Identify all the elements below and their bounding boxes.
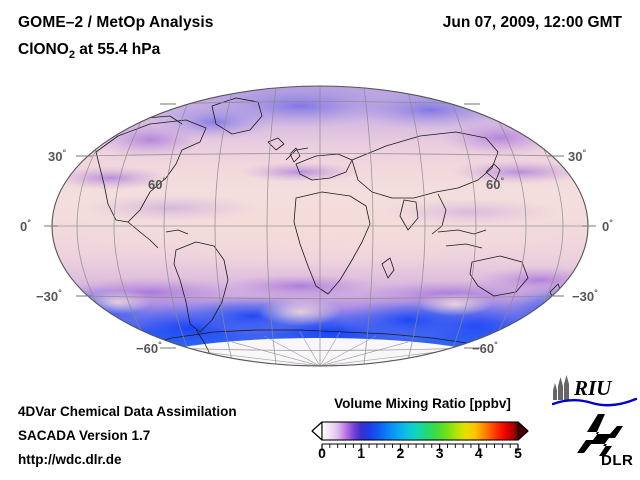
lat-label-minus30-left: −30° bbox=[36, 289, 62, 304]
world-map: 60° 30° 0° −30° −60° 60° 30° 0° −30° −60… bbox=[0, 80, 640, 385]
colorbar-tick-0: 0 bbox=[311, 445, 333, 461]
page-title: GOME–2 / MetOp Analysis bbox=[18, 14, 214, 32]
colorbar-max-arrow bbox=[518, 422, 528, 440]
colorbar-tick-1: 1 bbox=[350, 445, 372, 461]
lat-label-30-left: 30° bbox=[48, 149, 66, 164]
riu-wordmark: RIU bbox=[573, 376, 613, 400]
lat-label-60-right: 60° bbox=[486, 177, 504, 192]
species-name: ClONO bbox=[18, 41, 69, 58]
colorbar-gradient bbox=[322, 422, 518, 440]
lat-label-minus60-left: −60° bbox=[136, 341, 162, 356]
dlr-wordmark: DLR bbox=[601, 452, 633, 469]
colorbar-tick-4: 4 bbox=[468, 445, 490, 461]
dlr-logo: DLR bbox=[565, 412, 637, 470]
colorbar-tick-3: 3 bbox=[429, 445, 451, 461]
lat-label-60-left: 60° bbox=[148, 177, 166, 192]
lat-label-0-left: 0° bbox=[20, 219, 31, 234]
footer-method: 4DVar Chemical Data Assimilation bbox=[18, 404, 237, 419]
lat-label-minus30-right: −30° bbox=[572, 289, 598, 304]
colorbar-tick-5: 5 bbox=[507, 445, 529, 461]
riu-logo: RIU bbox=[552, 374, 638, 408]
lat-label-0-right: 0° bbox=[602, 219, 613, 234]
species-subtitle: ClONO2 at 55.4 hPa bbox=[18, 41, 160, 59]
colorbar-min-arrow bbox=[312, 422, 322, 440]
riu-tower-icon bbox=[553, 375, 569, 400]
dlr-mark-icon bbox=[577, 414, 623, 456]
colorbar-title: Volume Mixing Ratio [ppbv] bbox=[305, 396, 540, 411]
footer-url[interactable]: http://wdc.dlr.de bbox=[18, 452, 122, 467]
map-data-field bbox=[33, 84, 620, 385]
mollweide-map-svg bbox=[0, 80, 640, 385]
species-pressure-level: at 55.4 hPa bbox=[75, 41, 160, 58]
lat-label-30-right: 30° bbox=[568, 149, 586, 164]
colorbar-svg bbox=[305, 418, 540, 464]
lat-label-minus60-right: −60° bbox=[472, 341, 498, 356]
footer-version: SACADA Version 1.7 bbox=[18, 428, 150, 443]
colorbar-tick-2: 2 bbox=[389, 445, 411, 461]
timestamp: Jun 07, 2009, 12:00 GMT bbox=[443, 14, 622, 32]
colorbar: Volume Mixing Ratio [ppbv] bbox=[305, 396, 540, 476]
